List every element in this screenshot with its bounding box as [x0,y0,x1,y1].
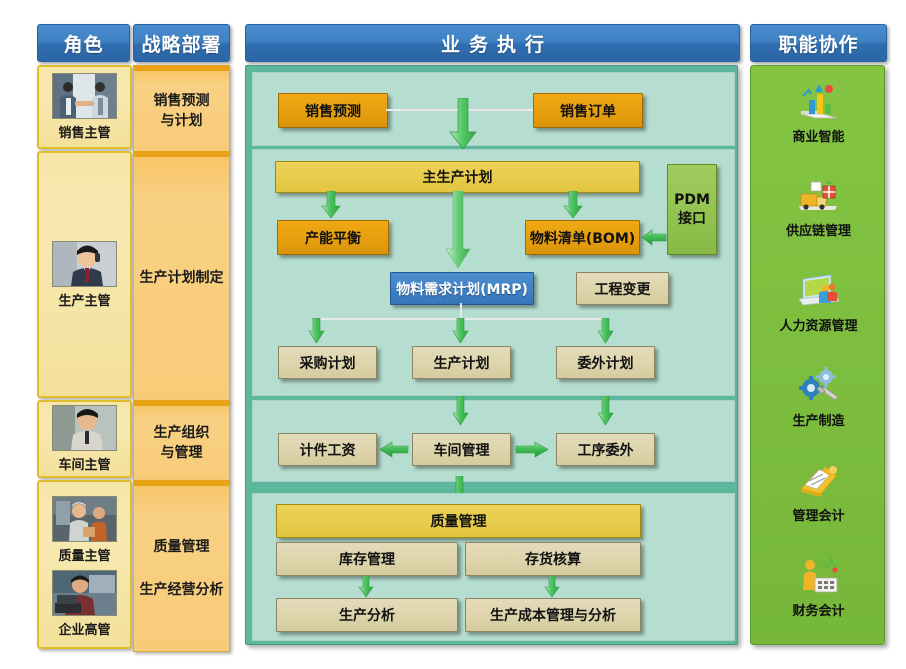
manager-phone-photo [52,241,117,287]
role-sub-quality: 质量主管 [52,496,117,564]
box-label: 物料清单(BOM) [530,228,635,248]
box-label: 库存管理 [339,549,395,569]
functional-item-label: 商业智能 [792,126,844,145]
role-cell-sales[interactable]: 销售主管 [37,65,132,149]
arrow-left-shopfloor-to-wage [379,441,409,458]
arrow-right-shopfloor-to-outsourcing [515,441,549,458]
box-label: 计件工资 [300,440,356,460]
arrow-down-to-production-analysis [358,576,374,598]
business-execution-panel: 销售预测 销售订单 主生产计划 [245,65,738,645]
box-pdm-interface[interactable]: PDM 接口 [667,164,717,255]
handshake-photo [52,73,117,119]
column-header-strategy: 战略部署 [133,24,230,62]
arrow-down-to-capacity [321,191,341,219]
box-piece-rate-wage[interactable]: 计件工资 [278,433,377,466]
strategy-line: 与管理 [154,443,210,463]
box-process-outsourcing[interactable]: 工序委外 [556,433,655,466]
role-label: 销售主管 [58,122,110,141]
box-purchase-plan[interactable]: 采购计划 [278,346,377,379]
box-capacity-balance[interactable]: 产能平衡 [277,220,389,255]
box-inventory-accounting[interactable]: 存货核算 [465,542,641,576]
strategy-line: 生产计划制定 [140,268,224,288]
strategy-cell-quality-and-analysis[interactable]: 质量管理 生产经营分析 [133,480,230,652]
functional-item-label: 管理会计 [792,505,844,524]
box-label: 物料需求计划(MRP) [396,279,528,299]
production-plan-lane: 主生产计划 产能平衡 物料清单(BOM) PDM 接口 [252,149,735,396]
box-sales-order[interactable]: 销售订单 [533,93,643,128]
shopfloor-lane: 计件工资 车间管理 工序委外 [252,400,735,482]
box-label: 存货核算 [525,549,581,569]
strategy-cell-production-org[interactable]: 生产组织 与管理 [133,400,230,481]
arrow-down-to-mps [449,98,477,150]
arrow-down-to-cost-analysis [544,576,560,598]
role-label: 企业高管 [58,619,110,638]
role-label: 车间主管 [58,454,110,473]
box-mrp[interactable]: 物料需求计划(MRP) [390,272,534,305]
functional-item-financial-accounting[interactable]: 财务会计 [751,556,886,642]
arrow-down-to-shopfloor-management [452,396,469,426]
box-master-production-schedule[interactable]: 主生产计划 [275,161,640,193]
strategy-line: 生产经营分析 [140,580,224,600]
strategy-line: 生产组织 [154,423,210,443]
box-label: 主生产计划 [423,167,493,187]
functional-item-label: 财务会计 [792,600,844,619]
box-label: 生产成本管理与分析 [490,605,616,625]
role-label: 质量主管 [58,545,110,564]
column-header-functional-label: 职能协作 [778,30,858,57]
arrow-down-to-process-outsourcing [597,396,614,426]
business-intelligence-icon [797,82,841,122]
box-inventory-management[interactable]: 库存管理 [276,542,458,576]
workshop-supervisor-photo [52,405,117,451]
arrow-down-to-production-plan [452,318,469,344]
role-label: 生产主管 [58,290,110,309]
functional-item-management-accounting[interactable]: 管理会计 [751,461,886,547]
strategy-cell-sales-plan[interactable]: 销售预测 与计划 [133,65,230,152]
quality-lane: 质量管理 库存管理 存货核算 生产分析 生产成本管理与分析 [252,493,735,641]
box-label: 销售预测 [305,101,361,121]
box-production-cost-analysis[interactable]: 生产成本管理与分析 [465,598,641,632]
box-sales-forecast[interactable]: 销售预测 [278,93,388,128]
strategy-line: 质量管理 [140,537,224,557]
column-header-functional: 职能协作 [750,24,887,62]
box-label: 车间管理 [434,440,490,460]
box-label-line: PDM [674,191,710,209]
strategy-line: 与计划 [154,111,210,131]
box-label: 工序委外 [578,440,634,460]
role-sub-executive: 企业高管 [52,570,117,638]
strategy-column: 销售预测 与计划 生产计划制定 生产组织 与管理 质量管理 生产经营分析 [133,65,228,645]
role-cell-workshop[interactable]: 车间主管 [37,400,132,478]
functional-item-label: 人力资源管理 [779,315,857,334]
connector-mrp-stem [460,303,462,319]
functional-item-business-intelligence[interactable]: 商业智能 [751,82,886,168]
column-header-execution-label: 业务执行 [432,30,553,57]
box-label: 生产计划 [434,353,490,373]
box-label: 生产分析 [339,605,395,625]
arrow-down-mps-to-mrp [445,191,471,269]
column-header-strategy-label: 战略部署 [141,30,221,57]
functional-item-manufacturing[interactable]: 生产制造 [751,366,886,452]
arrow-left-pdm-to-bom [641,229,667,246]
functional-item-label: 生产制造 [792,410,844,429]
box-label: 销售订单 [560,101,616,121]
functional-item-human-resources[interactable]: 人力资源管理 [751,271,886,357]
role-column: 销售主管 生产主管 [37,65,128,645]
arrow-down-to-bom [563,191,583,219]
column-header-role: 角色 [37,24,130,62]
executive-laptop-photo [52,570,117,616]
role-cell-production[interactable]: 生产主管 [37,151,132,398]
box-label: 委外计划 [578,353,634,373]
human-resources-icon [797,271,841,311]
supply-chain-icon [797,176,841,216]
box-production-analysis[interactable]: 生产分析 [276,598,458,632]
role-cell-quality-and-exec[interactable]: 质量主管 企业高管 [37,480,132,649]
column-header-execution: 业务执行 [245,24,740,62]
box-shopfloor-management[interactable]: 车间管理 [412,433,511,466]
box-outsourcing-plan[interactable]: 委外计划 [556,346,655,379]
arrow-down-to-outsourcing-plan [597,318,614,344]
column-header-role-label: 角色 [63,30,103,57]
box-label-line: 接口 [678,210,706,228]
box-quality-management[interactable]: 质量管理 [276,504,641,538]
strategy-line: 销售预测 [154,91,210,111]
box-label: 工程变更 [595,279,651,299]
strategy-cell-production-planning[interactable]: 生产计划制定 [133,151,230,401]
manufacturing-gears-icon [797,366,841,406]
arrow-down-to-purchase-plan [308,318,325,344]
sales-lane: 销售预测 销售订单 [252,72,735,146]
box-bom[interactable]: 物料清单(BOM) [525,220,640,255]
functional-item-supply-chain[interactable]: 供应链管理 [751,176,886,262]
financial-accounting-icon [797,556,841,596]
management-accounting-icon [797,461,841,501]
box-engineering-change[interactable]: 工程变更 [576,272,669,305]
functional-column: 商业智能 供应链管理 [750,65,885,645]
functional-item-label: 供应链管理 [786,220,851,239]
box-label: 采购计划 [300,353,356,373]
quality-inspector-photo [52,496,117,542]
box-label: 产能平衡 [305,228,361,248]
box-label: 质量管理 [431,511,487,531]
box-production-plan[interactable]: 生产计划 [412,346,511,379]
